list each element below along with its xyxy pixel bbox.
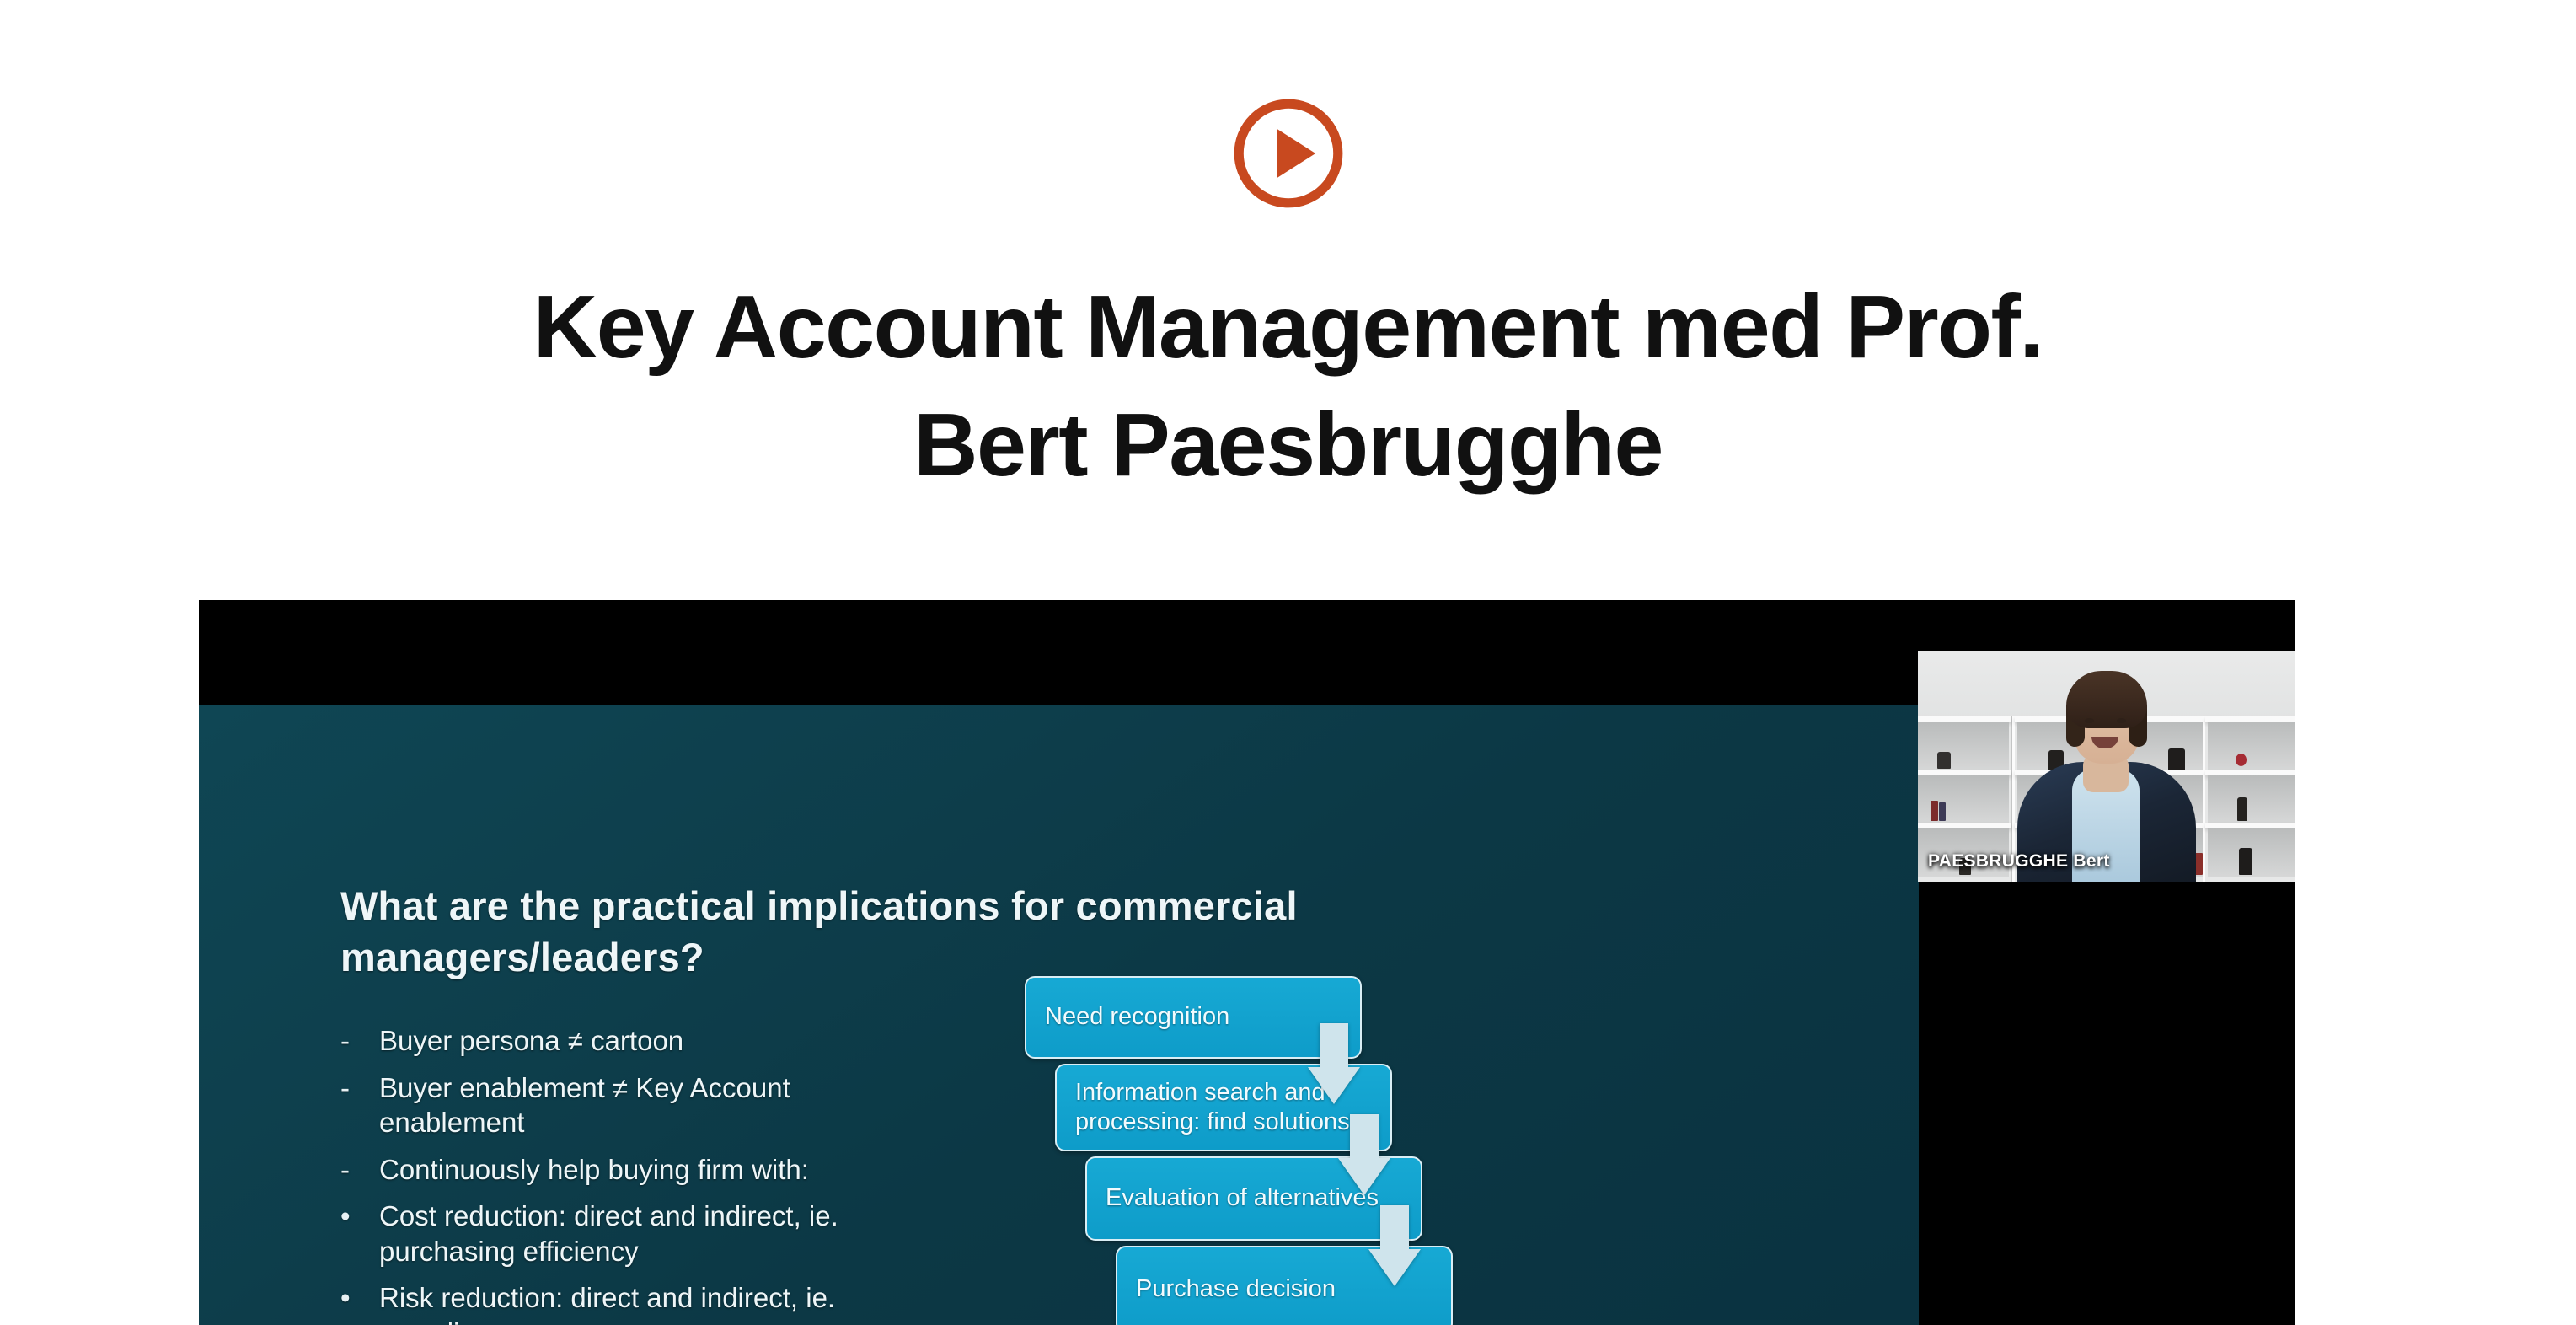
buying-process-flowchart: Need recognition Information search and … bbox=[1025, 976, 1707, 1325]
flow-step-1-label: Need recognition bbox=[1045, 1002, 1229, 1032]
shelf-book bbox=[2195, 853, 2203, 875]
shelf-trinket bbox=[2237, 797, 2247, 821]
bullet-text: Continuously help buying firm with: bbox=[379, 1152, 809, 1188]
video-player[interactable]: What are the practical implications for … bbox=[199, 600, 2295, 1325]
hero-section: Key Account Management med Prof. Bert Pa… bbox=[0, 0, 2576, 505]
shelf-book bbox=[1931, 801, 1938, 821]
bullet-marker: - bbox=[340, 1070, 379, 1106]
flow-step-4-label: Purchase decision bbox=[1136, 1274, 1336, 1304]
shelf-book bbox=[1939, 802, 1946, 821]
bullet-text: Buyer enablement ≠ Key Account enablemen… bbox=[379, 1070, 930, 1140]
page-title-line-2: Bert Paesbrugghe bbox=[913, 395, 1663, 495]
flow-arrow-1 bbox=[1308, 1023, 1360, 1104]
bullet-text: Risk reduction: direct and indirect, ie.… bbox=[379, 1280, 930, 1325]
bookshelf-unit bbox=[2203, 716, 2295, 882]
list-item: • Risk reduction: direct and indirect, i… bbox=[340, 1280, 930, 1325]
flow-arrow-2 bbox=[1338, 1114, 1390, 1195]
eye-right bbox=[2117, 718, 2126, 723]
slide-heading: What are the practical implications for … bbox=[340, 880, 1545, 983]
slide-bullet-list: - Buyer persona ≠ cartoon - Buyer enable… bbox=[340, 1023, 930, 1325]
webcam-scene bbox=[1918, 651, 2295, 882]
list-item: • Cost reduction: direct and indirect, i… bbox=[340, 1199, 930, 1269]
list-item: - Continuously help buying firm with: bbox=[340, 1152, 930, 1188]
bullet-marker: • bbox=[340, 1280, 379, 1316]
shelf-trinket bbox=[2168, 748, 2185, 770]
shelf-trinket bbox=[2236, 754, 2247, 766]
hair bbox=[2066, 671, 2147, 728]
page-title-line-1: Key Account Management med Prof. bbox=[533, 277, 2043, 377]
eye-left bbox=[2085, 718, 2094, 723]
bullet-marker: - bbox=[340, 1152, 379, 1188]
bullet-text: Cost reduction: direct and indirect, ie.… bbox=[379, 1199, 930, 1269]
shared-slide: What are the practical implications for … bbox=[199, 705, 1919, 1325]
page-title: Key Account Management med Prof. Bert Pa… bbox=[378, 269, 2198, 505]
shelf-trinket bbox=[1937, 752, 1951, 769]
participant-video-thumbnail[interactable]: PAESBRUGGHE Bert bbox=[1918, 651, 2295, 882]
participant-name-label: PAESBRUGGHE Bert bbox=[1928, 851, 2110, 872]
bullet-marker: • bbox=[340, 1199, 379, 1234]
list-item: - Buyer persona ≠ cartoon bbox=[340, 1023, 930, 1059]
bullet-text: Buyer persona ≠ cartoon bbox=[379, 1023, 683, 1059]
list-item: - Buyer enablement ≠ Key Account enablem… bbox=[340, 1070, 930, 1140]
play-circle-icon[interactable] bbox=[1229, 94, 1347, 212]
shelf-trinket bbox=[2239, 848, 2252, 875]
bullet-marker: - bbox=[340, 1023, 379, 1059]
flow-arrow-3 bbox=[1368, 1205, 1421, 1286]
